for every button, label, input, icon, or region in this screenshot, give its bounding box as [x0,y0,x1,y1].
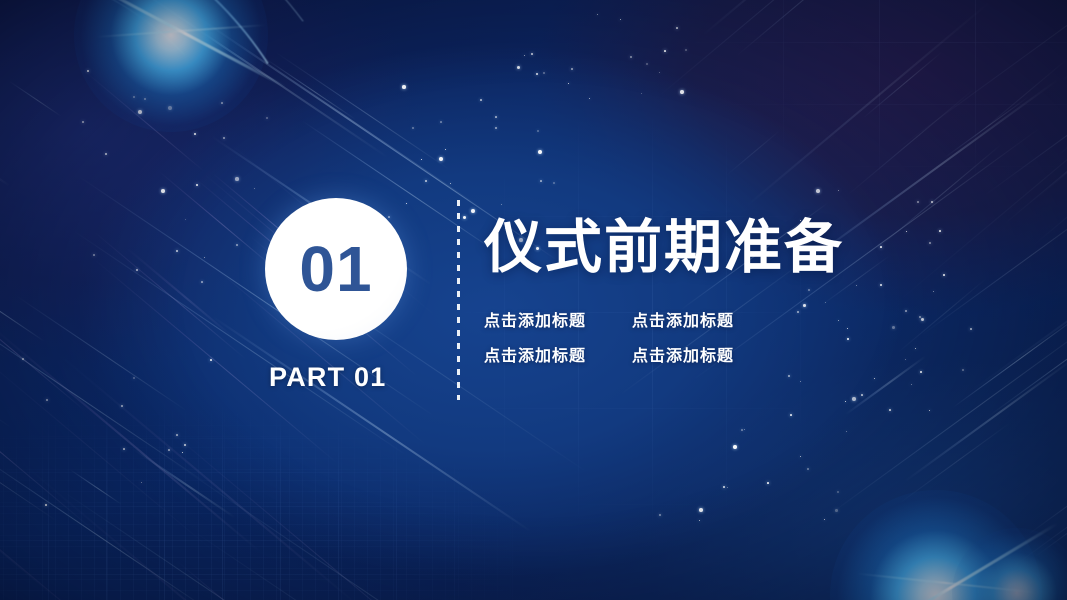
slide-content: 01 PART 01 仪式前期准备 点击添加标题 点击添加标题 点击添加标题 点… [0,0,1067,600]
subtitle-item: 点击添加标题 [632,342,844,366]
subtitle-list: 点击添加标题 点击添加标题 点击添加标题 点击添加标题 [484,307,844,366]
title-text-block: 仪式前期准备 点击添加标题 点击添加标题 点击添加标题 点击添加标题 [484,218,844,366]
dashed-divider [457,200,460,400]
page-title: 仪式前期准备 [484,218,844,279]
subtitle-item: 点击添加标题 [632,307,844,331]
part-label: PART 01 [269,362,445,393]
section-number: 01 [299,237,372,301]
section-number-circle: 01 [265,198,407,340]
subtitle-item: 点击添加标题 [484,307,632,331]
section-badge-block: 01 PART 01 [265,198,445,393]
presentation-slide: 01 PART 01 仪式前期准备 点击添加标题 点击添加标题 点击添加标题 点… [0,0,1067,600]
subtitle-item: 点击添加标题 [484,342,632,366]
